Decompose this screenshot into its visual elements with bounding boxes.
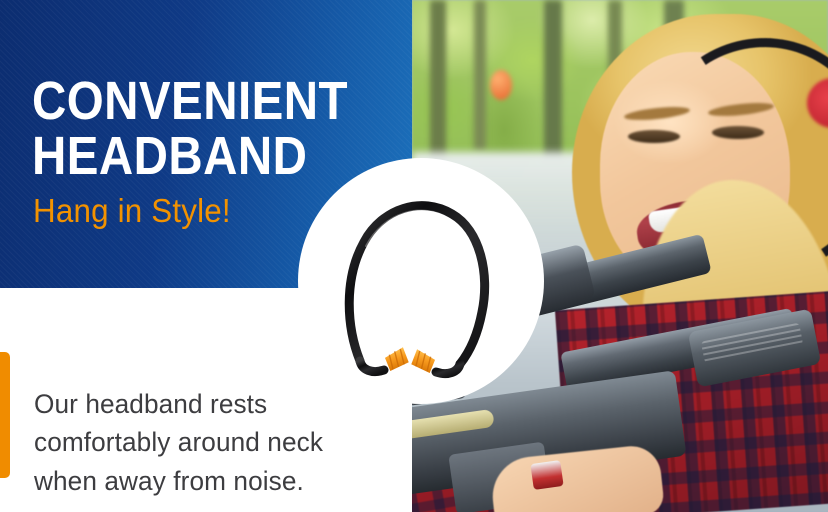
rifle-trigger-detail (530, 460, 563, 490)
tree-trunk-icon (474, 0, 486, 150)
subtitle: Hang in Style! (33, 192, 231, 230)
banner-root: CONVENIENT HEADBAND Hang in Style! (0, 0, 828, 512)
tree-trunk-icon (430, 0, 446, 170)
tree-trunk-icon (544, 0, 562, 160)
balloon-icon (490, 70, 512, 100)
page-title: CONVENIENT HEADBAND (32, 74, 349, 184)
headband-earplugs-icon (330, 186, 510, 386)
orange-accent-bar (0, 352, 10, 478)
body-copy: Our headband rests comfortably around ne… (34, 385, 374, 500)
product-image (330, 186, 510, 386)
